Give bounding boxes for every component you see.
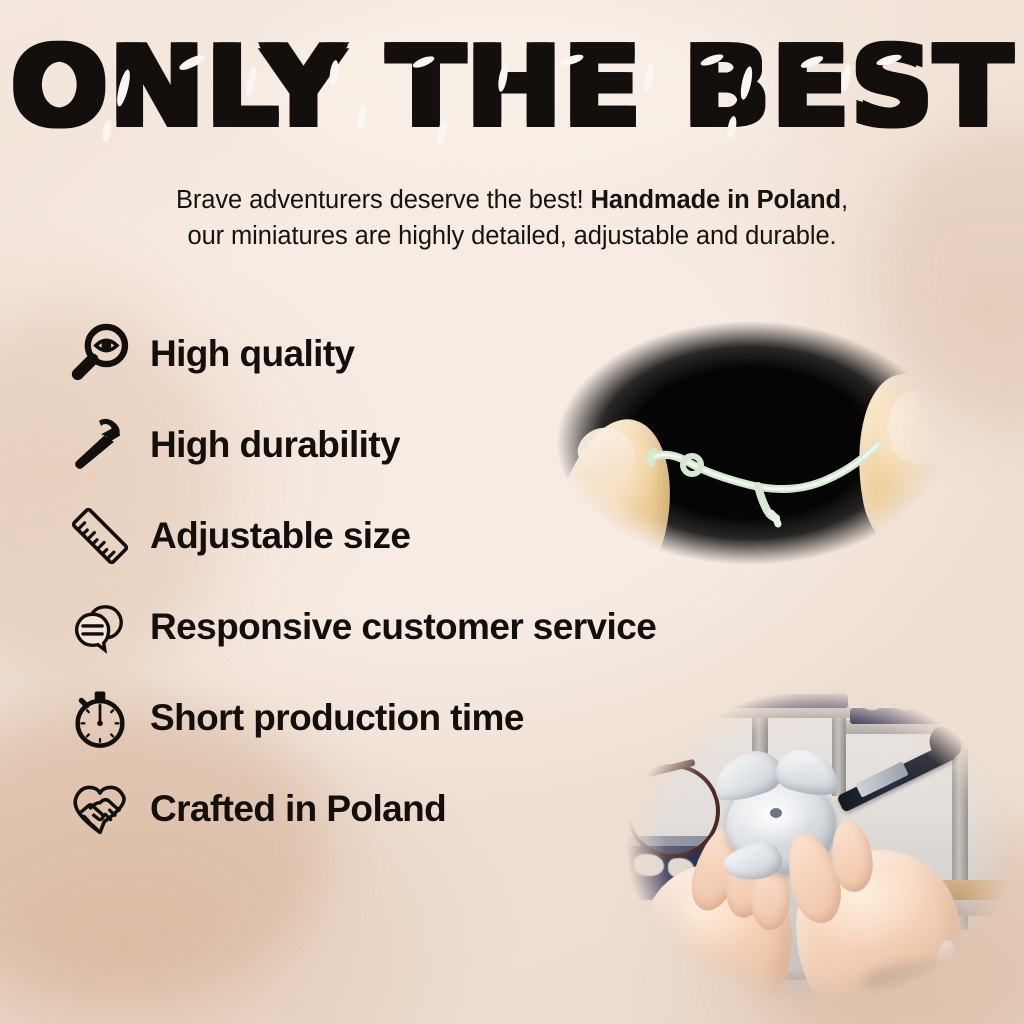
stopwatch-icon	[62, 680, 138, 756]
shelf-miniature	[892, 692, 918, 710]
heart-handshake-icon	[62, 771, 138, 847]
subtitle-lead: Brave adventurers deserve the best!	[176, 186, 584, 214]
workshop-painting-photo	[600, 668, 1024, 1024]
shelf-miniature	[734, 684, 752, 698]
torn-speck	[920, 318, 970, 378]
floor-shadow	[862, 964, 1012, 1008]
feature-label: Short production time	[150, 697, 524, 739]
torn-speck	[800, 286, 890, 306]
feature-label: High quality	[150, 333, 355, 375]
hammer-icon	[62, 407, 138, 483]
flexible-miniature-photo	[500, 278, 1000, 608]
case-miniature	[634, 854, 664, 876]
shelf-miniature	[930, 696, 952, 710]
photo-content	[600, 668, 1024, 1024]
miniature-tray	[850, 708, 1022, 724]
subtitle-comma: ,	[841, 186, 848, 214]
torn-speck	[590, 288, 636, 308]
shelf-miniature	[862, 696, 882, 710]
photo-content	[500, 278, 1000, 608]
page-subtitle: Brave adventurers deserve the best! Hand…	[0, 182, 1024, 254]
label-card	[700, 690, 736, 714]
feature-label: Crafted in Poland	[150, 788, 446, 830]
subtitle-bold: Handmade in Poland	[591, 186, 841, 214]
torn-speck	[650, 568, 760, 594]
flexible-miniature-part	[630, 413, 930, 538]
torn-edge-mask	[600, 668, 1024, 1024]
speech-bubbles-icon	[62, 589, 138, 665]
magnifier-eye-icon	[62, 316, 138, 392]
promo-poster: ONLY THE BEST Brave adventurers deserve …	[0, 0, 1024, 1024]
subtitle-rest: our miniatures are highly detailed, adju…	[187, 222, 836, 250]
dragon-eye	[770, 808, 782, 818]
shelf-miniature	[758, 686, 772, 698]
feature-label: Responsive customer service	[150, 606, 656, 648]
torn-speck	[520, 338, 560, 388]
ruler-icon	[62, 498, 138, 574]
feature-label: Adjustable size	[150, 515, 410, 557]
shelf-miniature	[966, 694, 990, 710]
torn-edge-mask	[500, 278, 1000, 608]
torn-speck	[530, 298, 588, 324]
page-headline: ONLY THE BEST	[0, 34, 1024, 142]
feature-label: High durability	[150, 424, 400, 466]
torn-speck	[660, 284, 730, 306]
